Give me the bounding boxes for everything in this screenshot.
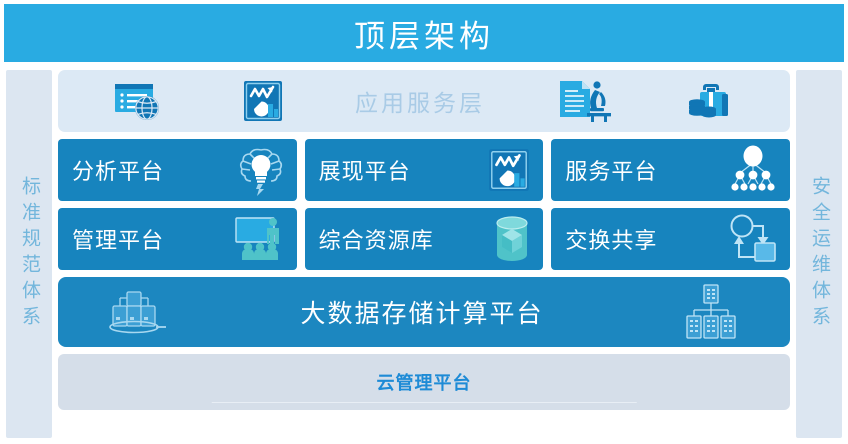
chart-panel-icon — [485, 146, 533, 194]
card-resource-database-label: 综合资源库 — [319, 223, 434, 255]
presentation-audience-icon — [231, 214, 287, 264]
card-presentation-platform[interactable]: 展现平台 — [305, 139, 544, 201]
left-pillar-label: 标准规范体系 — [19, 176, 39, 332]
card-management-platform[interactable]: 管理平台 — [58, 208, 297, 270]
card-exchange-sharing[interactable]: 交换共享 — [551, 208, 790, 270]
platform-row-1: 分析平台 — [58, 139, 790, 201]
hierarchy-network-icon — [726, 145, 780, 195]
card-service-platform[interactable]: 服务平台 — [551, 139, 790, 201]
exchange-arrows-icon — [726, 213, 780, 265]
card-service-platform-label: 服务平台 — [565, 154, 657, 186]
analytics-chart-icon — [240, 78, 286, 124]
page-title: 顶层架构 — [354, 11, 494, 56]
web-portal-globe-icon — [109, 78, 171, 124]
diagram-body: 标准规范体系 — [0, 62, 848, 444]
application-service-layer-label: 应用服务层 — [355, 84, 485, 118]
left-pillar-standards: 标准规范体系 — [6, 70, 52, 438]
server-cluster-icon — [98, 284, 170, 340]
application-service-layer: 应用服务层 — [58, 70, 790, 132]
card-analysis-platform[interactable]: 分析平台 — [58, 139, 297, 201]
cloud-management-platform-bar[interactable]: 云管理平台 — [58, 354, 790, 410]
card-presentation-platform-label: 展现平台 — [319, 154, 411, 186]
diagram-title-bar: 顶层架构 — [4, 4, 844, 62]
cloud-underline-divider — [212, 402, 637, 403]
brain-bulb-icon — [235, 144, 287, 196]
cloud-management-platform-label: 云管理平台 — [377, 369, 472, 395]
bigdata-platform-bar[interactable]: 大数据存储计算平台 — [58, 277, 790, 347]
platform-row-2: 管理平台 — [58, 208, 790, 270]
server-rack-icon — [674, 282, 750, 342]
card-analysis-platform-label: 分析平台 — [72, 154, 164, 186]
architecture-diagram: 顶层架构 标准规范体系 — [0, 0, 848, 444]
right-pillar-security: 安全运维体系 — [796, 70, 842, 438]
document-microscope-icon — [554, 77, 614, 125]
coins-briefcase-icon — [683, 78, 739, 124]
card-resource-database[interactable]: 综合资源库 — [305, 208, 544, 270]
bigdata-platform-label: 大数据存储计算平台 — [300, 294, 543, 330]
card-exchange-sharing-label: 交换共享 — [565, 223, 657, 255]
center-stack: 应用服务层 — [58, 70, 790, 438]
database-cube-icon — [491, 213, 533, 265]
right-pillar-label: 安全运维体系 — [809, 176, 829, 332]
card-management-platform-label: 管理平台 — [72, 223, 164, 255]
